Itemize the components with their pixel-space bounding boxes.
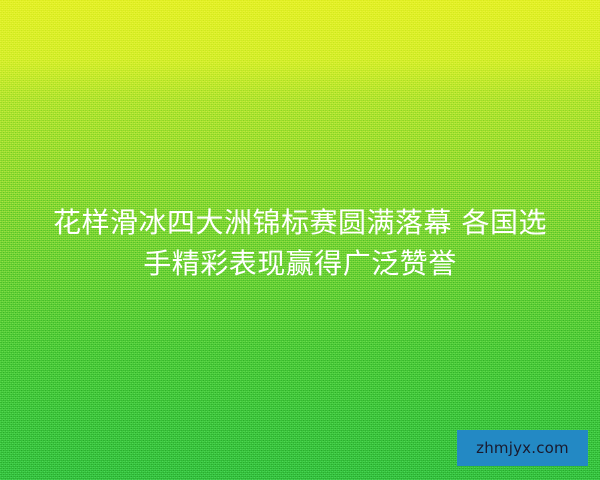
page-title-line-1: 花样滑冰四大洲锦标赛圆满落幕 各国选 — [26, 202, 574, 243]
page-title: 花样滑冰四大洲锦标赛圆满落幕 各国选 手精彩表现赢得广泛赞誉 — [0, 202, 600, 284]
watermark-badge[interactable]: zhmjyx.com — [457, 430, 588, 466]
watermark-label: zhmjyx.com — [476, 441, 569, 456]
banner-canvas: 花样滑冰四大洲锦标赛圆满落幕 各国选 手精彩表现赢得广泛赞誉 zhmjyx.co… — [0, 0, 600, 480]
page-title-line-2: 手精彩表现赢得广泛赞誉 — [26, 243, 574, 284]
